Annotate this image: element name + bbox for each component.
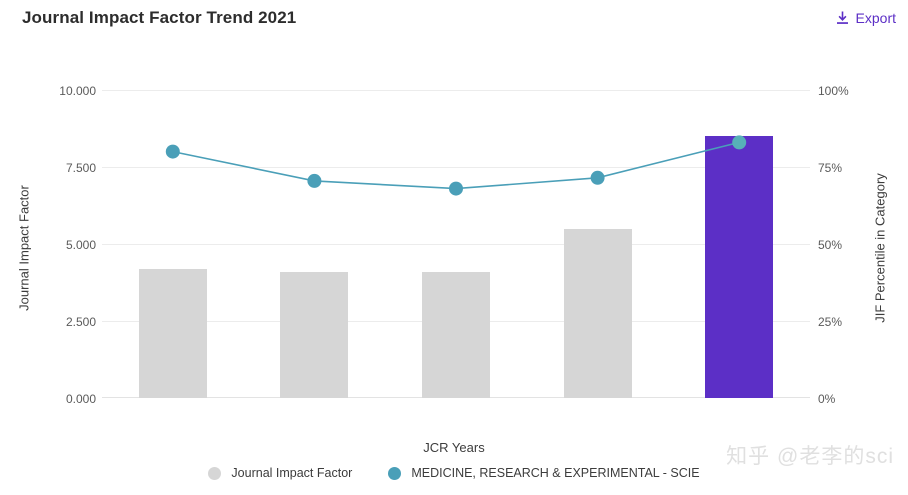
legend-item-category[interactable]: MEDICINE, RESEARCH & EXPERIMENTAL - SCIE [388,466,699,480]
y-tick-left: 7.500 [66,162,96,174]
y-tick-right: 75% [818,162,842,174]
y-axis-right-title: JIF Percentile in Category [873,173,888,323]
y-tick-left: 2.500 [66,316,96,328]
y-tick-right: 0% [818,393,835,405]
export-label: Export [856,10,896,26]
legend-item-journal-impact-factor[interactable]: Journal Impact Factor [208,466,352,480]
data-point-2018[interactable] [307,174,321,188]
page-title: Journal Impact Factor Trend 2021 [22,8,296,28]
legend-label: MEDICINE, RESEARCH & EXPERIMENTAL - SCIE [411,466,699,480]
data-point-2017[interactable] [166,145,180,159]
y-tick-right: 25% [818,316,842,328]
chart-page: Journal Impact Factor Trend 2021 Export … [0,0,908,495]
y-tick-left: 10.000 [59,85,96,97]
data-point-2021[interactable] [732,135,746,149]
watermark: 知乎 @老李的sci [726,440,894,470]
line-series-layer [102,90,810,398]
y-tick-right: 100% [818,85,849,97]
data-point-2020[interactable] [591,171,605,185]
data-point-2019[interactable] [449,182,463,196]
legend-swatch-icon [208,467,221,480]
export-button[interactable]: Export [832,8,900,28]
download-icon [836,11,849,25]
y-tick-left: 5.000 [66,239,96,251]
y-axis-left-title: Journal Impact Factor [17,185,32,311]
y-tick-right: 50% [818,239,842,251]
legend-label: Journal Impact Factor [231,466,352,480]
plot-area: 10.000 7.500 5.000 2.500 0.000 100% 75% … [102,90,810,398]
y-tick-left: 0.000 [66,393,96,405]
legend-swatch-icon [388,467,401,480]
